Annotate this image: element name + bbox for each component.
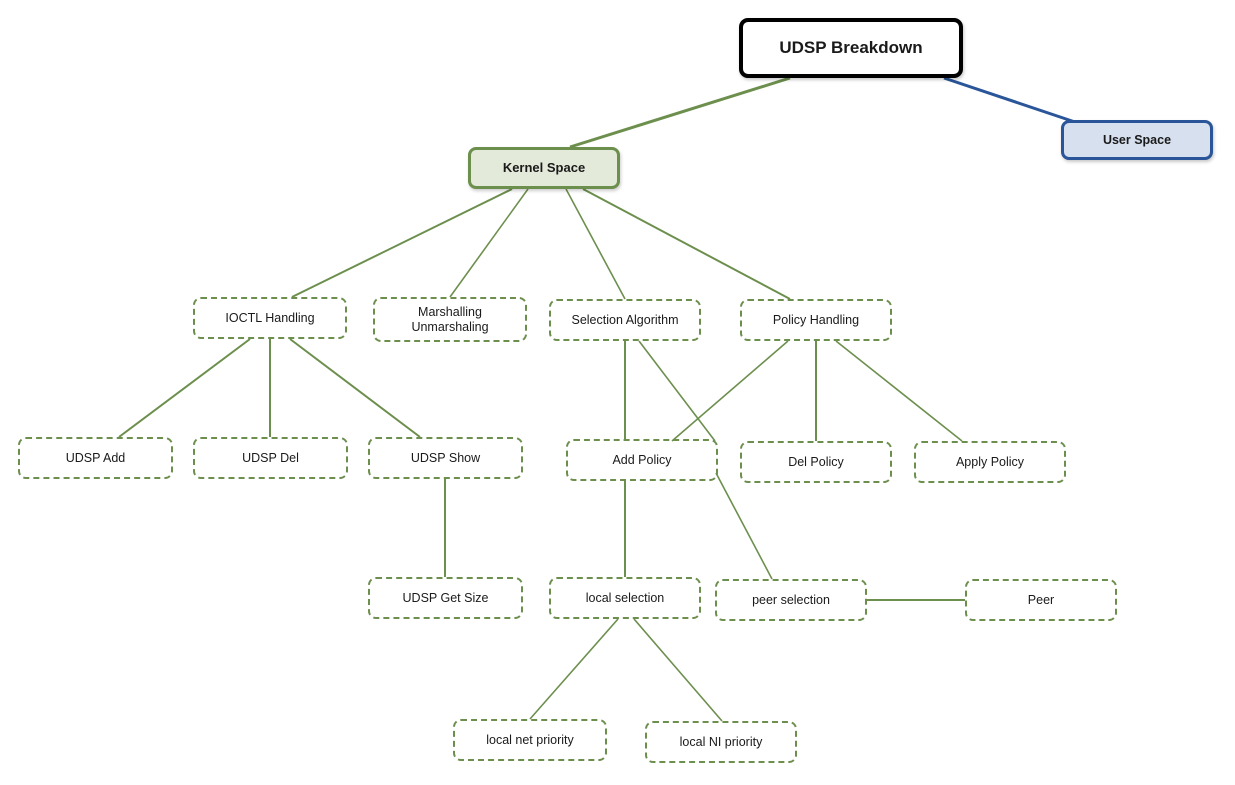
node-peer_selection[interactable]: peer selection <box>715 579 867 621</box>
node-peer[interactable]: Peer <box>965 579 1117 621</box>
diagram-canvas: UDSP BreakdownUser SpaceKernel SpaceIOCT… <box>0 0 1235 785</box>
edge-local_selection-to-local_net_prio <box>530 619 618 719</box>
node-marshalling[interactable]: Marshalling Unmarshaling <box>373 297 527 342</box>
node-apply_policy-label: Apply Policy <box>952 455 1028 470</box>
node-marshalling-label: Marshalling Unmarshaling <box>407 305 492 335</box>
node-local_net_prio-label: local net priority <box>482 733 578 748</box>
node-ioctl_handling[interactable]: IOCTL Handling <box>193 297 347 339</box>
node-peer-label: Peer <box>1024 593 1058 608</box>
node-udsp_get_size[interactable]: UDSP Get Size <box>368 577 523 619</box>
edge-selection_algo-to-peer_selection <box>639 341 715 441</box>
node-add_policy[interactable]: Add Policy <box>566 439 718 481</box>
node-kernel_space-label: Kernel Space <box>499 160 589 175</box>
edge-ioctl_handling-to-udsp_add <box>119 339 250 437</box>
edge-kernel_space-to-policy_handling <box>583 189 790 299</box>
node-udsp_del-label: UDSP Del <box>238 451 303 466</box>
node-policy_handling-label: Policy Handling <box>769 313 863 328</box>
edge-local_selection-to-local_ni_prio <box>634 619 722 721</box>
node-udsp_add-label: UDSP Add <box>62 451 130 466</box>
edge-add_policy-to-peer_selection <box>716 473 772 579</box>
node-selection_algo[interactable]: Selection Algorithm <box>549 299 701 341</box>
node-udsp_get_size-label: UDSP Get Size <box>399 591 493 606</box>
node-add_policy-label: Add Policy <box>608 453 675 468</box>
node-local_ni_prio[interactable]: local NI priority <box>645 721 797 763</box>
node-selection_algo-label: Selection Algorithm <box>567 313 682 328</box>
node-del_policy-label: Del Policy <box>784 455 848 470</box>
node-local_ni_prio-label: local NI priority <box>676 735 767 750</box>
node-user_space-label: User Space <box>1099 133 1175 148</box>
node-policy_handling[interactable]: Policy Handling <box>740 299 892 341</box>
edge-policy_handling-to-add_policy <box>672 341 788 441</box>
node-root-label: UDSP Breakdown <box>775 38 926 58</box>
node-udsp_show[interactable]: UDSP Show <box>368 437 523 479</box>
node-udsp_add[interactable]: UDSP Add <box>18 437 173 479</box>
node-udsp_show-label: UDSP Show <box>407 451 484 466</box>
node-local_net_prio[interactable]: local net priority <box>453 719 607 761</box>
edge-root-to-kernel_space <box>570 78 790 147</box>
node-local_selection-label: local selection <box>582 591 669 606</box>
edge-ioctl_handling-to-udsp_show <box>290 339 420 437</box>
node-apply_policy[interactable]: Apply Policy <box>914 441 1066 483</box>
edge-kernel_space-to-marshalling <box>450 189 528 297</box>
node-del_policy[interactable]: Del Policy <box>740 441 892 483</box>
node-user_space[interactable]: User Space <box>1061 120 1213 160</box>
node-local_selection[interactable]: local selection <box>549 577 701 619</box>
node-ioctl_handling-label: IOCTL Handling <box>221 311 318 326</box>
node-udsp_del[interactable]: UDSP Del <box>193 437 348 479</box>
edge-layer <box>0 0 1235 785</box>
edge-kernel_space-to-ioctl_handling <box>292 189 512 297</box>
node-kernel_space[interactable]: Kernel Space <box>468 147 620 189</box>
node-peer_selection-label: peer selection <box>748 593 834 608</box>
edge-root-to-user_space <box>944 78 1075 122</box>
edge-policy_handling-to-apply_policy <box>836 341 962 441</box>
node-root[interactable]: UDSP Breakdown <box>739 18 963 78</box>
